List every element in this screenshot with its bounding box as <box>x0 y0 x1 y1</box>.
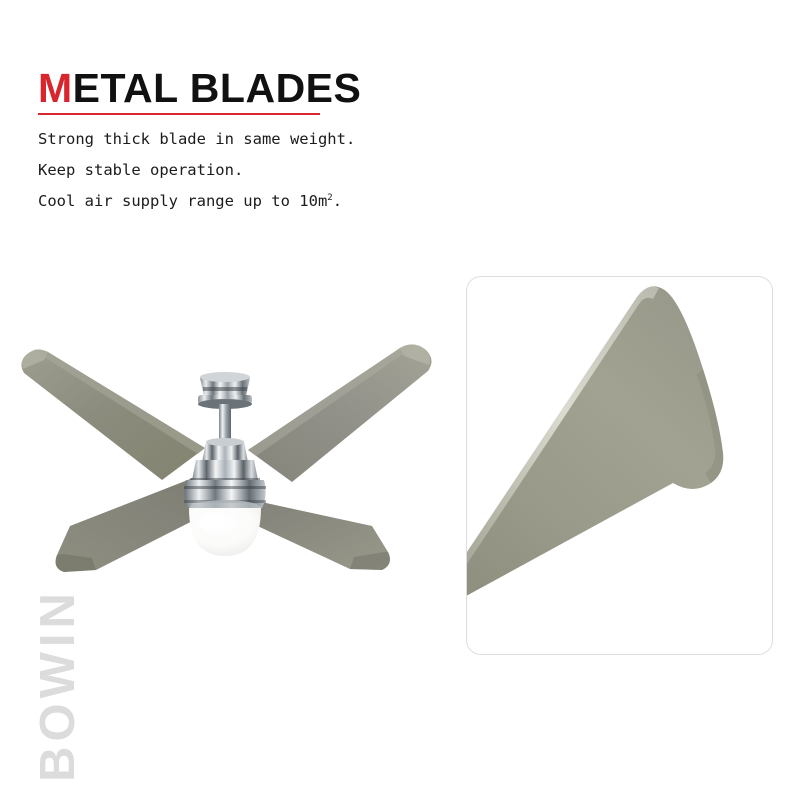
page-title: METAL BLADES <box>38 66 361 110</box>
feature-description: Strong thick blade in same weight. Keep … <box>38 124 458 217</box>
title-accent-letter: M <box>38 65 73 111</box>
fan-ceiling-canopy <box>198 372 252 409</box>
blade-detail-inset-card <box>466 276 773 655</box>
fan-blade-upper-left <box>21 349 205 480</box>
ceiling-fan-image <box>0 330 465 590</box>
description-line-2: Keep stable operation. <box>38 155 458 186</box>
fan-light-globe <box>189 500 261 556</box>
fan-blade-upper-right <box>248 344 432 482</box>
description-line-1: Strong thick blade in same weight. <box>38 124 458 155</box>
description-line-3-text: Cool air supply range up to 10m <box>38 192 327 210</box>
title-rest: ETAL BLADES <box>73 65 362 111</box>
description-line-3-period: . <box>333 192 342 210</box>
slide-canvas: METAL BLADES Strong thick blade in same … <box>0 0 800 800</box>
brand-watermark: BOWIN <box>28 565 88 800</box>
description-line-3: Cool air supply range up to 10m2. <box>38 186 458 217</box>
title-underline-rule <box>38 113 320 115</box>
